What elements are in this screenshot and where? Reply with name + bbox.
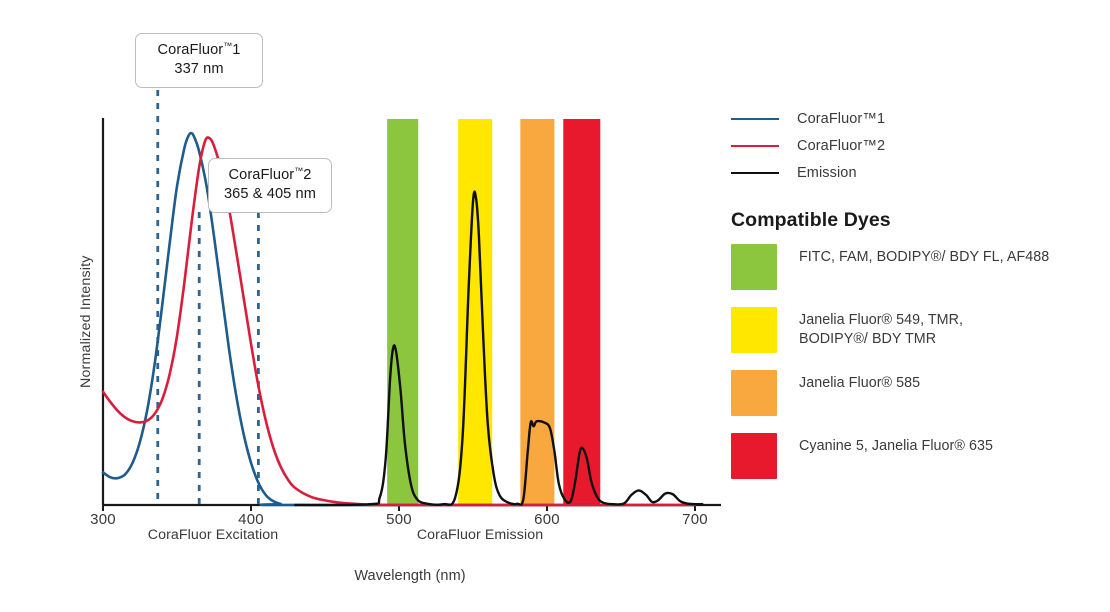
legend-item-2[interactable]: Emission xyxy=(731,159,1103,186)
x-tick-label-500: 500 xyxy=(369,511,429,528)
dye-item-1[interactable]: Janelia Fluor® 549, TMR, BODIPY®/ BDY TM… xyxy=(731,307,1103,353)
legend-item-label: Emission xyxy=(797,165,857,181)
callout-corafluor2: CoraFluor™2 365 & 405 nm xyxy=(208,158,332,213)
legend-line-swatch xyxy=(731,145,779,147)
trademark-icon: ™ xyxy=(223,41,232,51)
compatible-dyes-list: FITC, FAM, BODIPY®/ BDY FL, AF488Janelia… xyxy=(731,244,1103,479)
yellow-band xyxy=(458,119,492,505)
x-tick-label-600: 600 xyxy=(517,511,577,528)
legend-item-0[interactable]: CoraFluor™1 xyxy=(731,105,1103,132)
dye-item-0[interactable]: FITC, FAM, BODIPY®/ BDY FL, AF488 xyxy=(731,244,1103,290)
callout2-line2: 365 & 405 nm xyxy=(221,185,319,204)
dye-item-label: Cyanine 5, Janelia Fluor® 635 xyxy=(799,433,993,456)
callout2-line1: CoraFluor™2 xyxy=(228,167,311,183)
compatible-dyes-title: Compatible Dyes xyxy=(731,209,1103,232)
x-axis-title: Wavelength (nm) xyxy=(350,568,470,584)
dye-item-3[interactable]: Cyanine 5, Janelia Fluor® 635 xyxy=(731,433,1103,479)
y-axis-title: Normalized Intensity xyxy=(78,255,94,388)
green-band xyxy=(387,119,418,505)
dye-color-swatch xyxy=(731,370,777,416)
dye-item-label: Janelia Fluor® 585 xyxy=(799,370,920,393)
curve-emission xyxy=(295,192,702,505)
legend-item-label: CoraFluor™2 xyxy=(797,138,885,154)
callout1-line2: 337 nm xyxy=(148,60,250,79)
side-panel: CoraFluor™1CoraFluor™2Emission Compatibl… xyxy=(731,105,1103,496)
callout1-line1: CoraFluor™1 xyxy=(157,42,240,58)
figure-root: CoraFluor™1 337 nm CoraFluor™2 365 & 405… xyxy=(0,0,1110,612)
dye-color-swatch xyxy=(731,433,777,479)
x-tick-label-700: 700 xyxy=(665,511,725,528)
legend-line-swatch xyxy=(731,118,779,120)
dye-item-2[interactable]: Janelia Fluor® 585 xyxy=(731,370,1103,416)
legend-line-swatch xyxy=(731,172,779,174)
legend-item-1[interactable]: CoraFluor™2 xyxy=(731,132,1103,159)
dye-item-label: Janelia Fluor® 549, TMR, BODIPY®/ BDY TM… xyxy=(799,307,963,349)
x-tick-label-400: 400 xyxy=(221,511,281,528)
dye-color-swatch xyxy=(731,307,777,353)
emission-band-group xyxy=(387,119,600,505)
callout-corafluor1: CoraFluor™1 337 nm xyxy=(135,33,263,88)
series-legend: CoraFluor™1CoraFluor™2Emission xyxy=(731,105,1103,186)
orange-band xyxy=(520,119,554,505)
emission-caption: CoraFluor Emission xyxy=(412,527,548,543)
dye-item-label: FITC, FAM, BODIPY®/ BDY FL, AF488 xyxy=(799,244,1049,267)
dye-color-swatch xyxy=(731,244,777,290)
x-tick-label-300: 300 xyxy=(73,511,133,528)
trademark-icon: ™ xyxy=(294,166,303,176)
excitation-caption: CoraFluor Excitation xyxy=(143,527,283,543)
legend-item-label: CoraFluor™1 xyxy=(797,111,885,127)
